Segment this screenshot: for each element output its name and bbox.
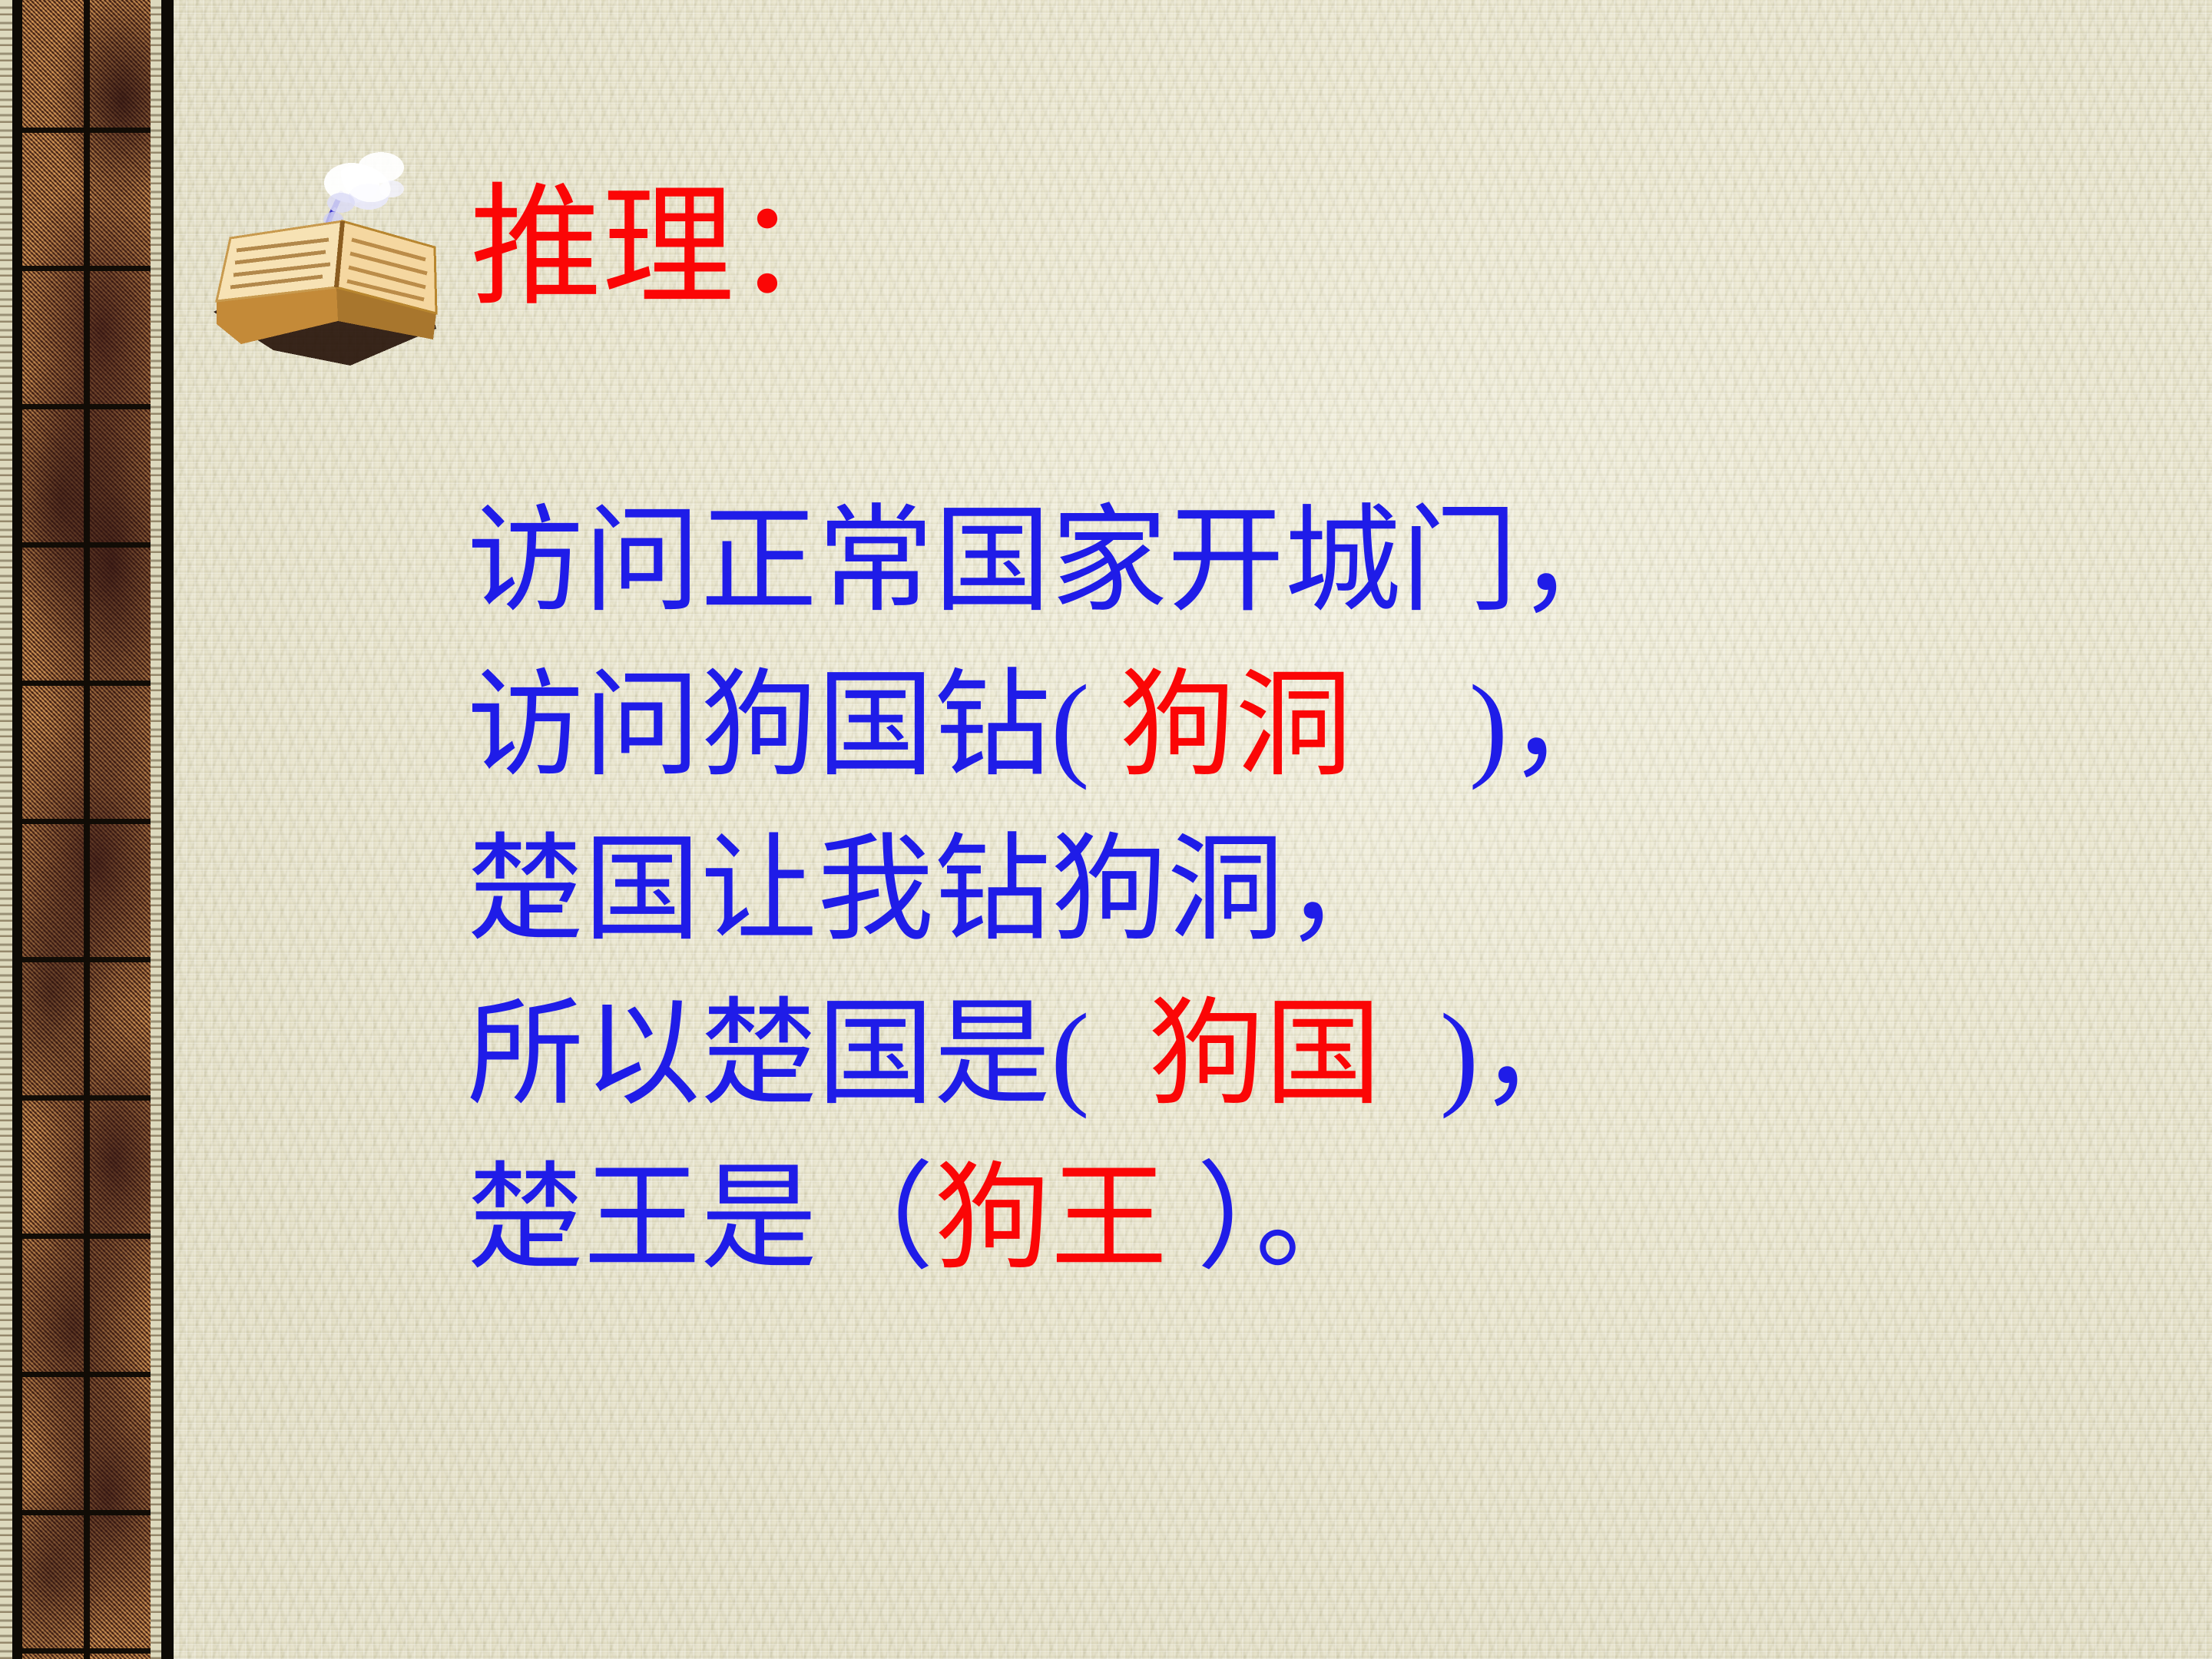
line-5: 楚王是（狗王 ）。 [467,1137,2141,1301]
line-1: 访问正常国家开城门， [467,479,2141,644]
slide-canvas: 推理： 访问正常国家开城门，访问狗国钻( 狗洞 )，楚国让我钻狗洞，所以楚国是(… [0,0,2212,1659]
border-frame-line-inner [12,0,22,1659]
border-brick-texture [22,0,151,1659]
open-book-with-sparkle-icon [190,123,482,376]
border-frame-line-outer [161,0,174,1659]
line-5-text-0: 楚王是（ [467,1154,934,1283]
left-decorative-border [0,0,174,1659]
border-outer-edge-right [151,0,161,1659]
line-1-text-0: 访问正常国家开城门， [467,497,1634,626]
line-4-answer-1: 狗国 [1090,990,1440,1119]
line-2-text-2: )， [1382,661,1625,790]
border-outer-edge-left [0,0,12,1659]
reasoning-text-block: 访问正常国家开城门，访问狗国钻( 狗洞 )，楚国让我钻狗洞，所以楚国是( 狗国 … [467,479,2141,1301]
line-4-text-2: )， [1440,990,1596,1119]
line-2-text-0: 访问狗国钻( [467,661,1090,790]
slide-title: 推理： [470,183,866,315]
line-2: 访问狗国钻( 狗洞 )， [467,644,2141,808]
line-4: 所以楚国是( 狗国 )， [467,972,2141,1137]
line-4-text-0: 所以楚国是( [467,990,1090,1119]
border-tile-grid [22,0,151,1659]
line-5-answer-1: 狗王 [934,1154,1197,1283]
line-3: 楚国让我钻狗洞， [467,808,2141,972]
line-3-text-0: 楚国让我钻狗洞， [467,826,1401,955]
line-2-answer-1: 狗洞 [1090,661,1382,790]
line-5-text-2: ）。 [1197,1154,1372,1283]
